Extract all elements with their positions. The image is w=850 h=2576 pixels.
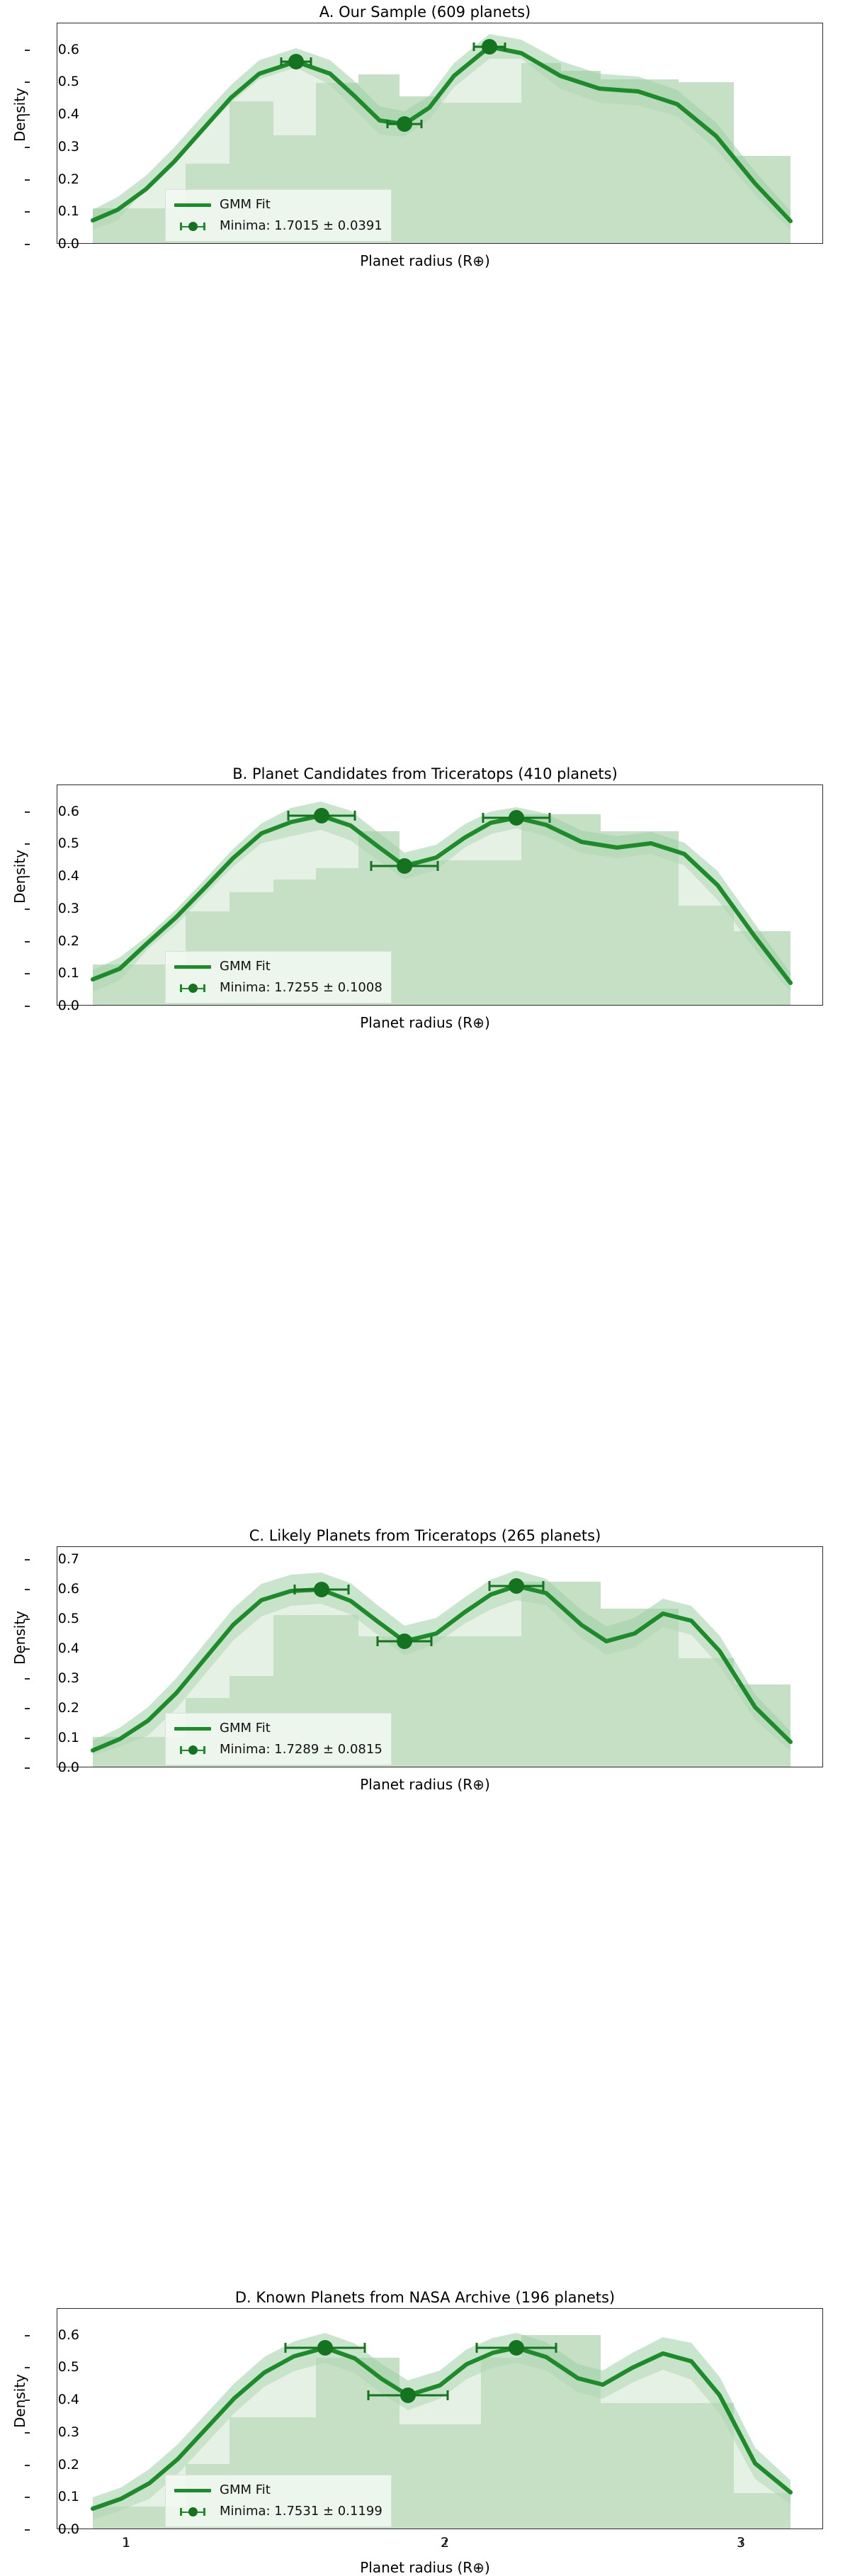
panel-a-ytick-4: 0.4: [30, 106, 79, 122]
panel-b-title: B. Planet Candidates from Triceratops (4…: [0, 765, 850, 783]
panel-d-ytick-4: 0.4: [30, 2392, 79, 2407]
panel-d-ytick-0: 0.0: [30, 2521, 79, 2537]
legend-label-gmm-fit: GMM Fit: [220, 1718, 271, 1739]
panel-d-ytick-5: 0.5: [30, 2359, 79, 2375]
panel-b-maximum-dot-left: [314, 808, 329, 823]
legend-entry-minima: Minima: 1.7289 ± 0.0815: [173, 1739, 382, 1760]
panel-d-ytick-1: 0.1: [30, 2489, 79, 2504]
legend-entry-gmm-fit: GMM Fit: [173, 194, 382, 215]
panel-d-xtick-2: 3: [720, 2535, 762, 2550]
panel-d: D. Known Planets from NASA Archive (196 …: [0, 1461, 850, 1947]
legend-label-minima: Minima: 1.7531 ± 0.1199: [220, 2501, 382, 2522]
panel-a-ytick-1: 0.1: [30, 203, 79, 219]
legend-entry-gmm-fit: GMM Fit: [173, 2480, 382, 2501]
errorbar-swatch-icon: [173, 1742, 212, 1757]
legend-label-minima: Minima: 1.7255 ± 0.1008: [220, 977, 382, 999]
panel-b-minima-dot: [397, 858, 412, 874]
panel-b-ytick-6: 0.6: [30, 804, 79, 819]
gmm-line-swatch-icon: [173, 197, 212, 213]
panel-a-ytick-6: 0.6: [30, 42, 79, 57]
panel-b-axes: GMM Fit Minima: 1.7255 ± 0.1008: [57, 784, 823, 1006]
panel-d-axes: GMM Fit Minima: 1.7531 ± 0.1199: [57, 2308, 823, 2529]
panel-d-xtick-0: 1: [105, 2535, 147, 2550]
panel-d-xtick-1: 2: [424, 2535, 466, 2550]
legend-entry-gmm-fit: GMM Fit: [173, 1718, 382, 1739]
panel-b-ytick-5: 0.5: [30, 836, 79, 851]
panel-d-legend: GMM Fit Minima: 1.7531 ± 0.1199: [165, 2475, 392, 2527]
panel-b: B. Planet Candidates from Triceratops (4…: [0, 487, 850, 974]
figure-root: A. Our Sample (609 planets) Density: [0, 0, 850, 1948]
panel-b-ytick-4: 0.4: [30, 868, 79, 884]
legend-label-gmm-fit: GMM Fit: [220, 194, 271, 215]
legend-entry-gmm-fit: GMM Fit: [173, 956, 382, 977]
panel-b-ytick-3: 0.3: [30, 901, 79, 916]
gmm-line-swatch-icon: [173, 1721, 212, 1736]
panel-a-maximum-dot-right: [482, 39, 497, 55]
panel-a-xlabel: Planet radius (R⊕): [0, 252, 850, 269]
panel-a-ytick-3: 0.3: [30, 139, 79, 154]
panel-a: A. Our Sample (609 planets) Density: [0, 0, 850, 487]
panel-c: C. Likely Planets from Triceratops (265 …: [0, 974, 850, 1461]
panel-a-legend: GMM Fit Minima: 1.7015 ± 0.0391: [165, 189, 392, 242]
panel-d-title: D. Known Planets from NASA Archive (196 …: [0, 2288, 850, 2307]
panel-a-maximum-dot-left: [288, 54, 304, 69]
legend-label-minima: Minima: 1.7015 ± 0.0391: [220, 215, 382, 237]
panel-a-ytick-5: 0.5: [30, 74, 79, 89]
panel-a-axes: GMM Fit Minima: 1.7015 ± 0.0391: [57, 23, 823, 244]
gmm-line-swatch-icon: [173, 959, 212, 974]
errorbar-swatch-icon: [173, 2504, 212, 2519]
panel-a-title: A. Our Sample (609 planets): [0, 3, 850, 21]
errorbar-swatch-icon: [173, 980, 212, 996]
panel-b-legend: GMM Fit Minima: 1.7255 ± 0.1008: [165, 951, 392, 1003]
panel-d-ytick-2: 0.2: [30, 2457, 79, 2473]
panel-a-ytick-2: 0.2: [30, 171, 79, 187]
panel-d-xlabel: Planet radius (R⊕): [0, 2559, 850, 2576]
panel-d-ytick-3: 0.3: [30, 2424, 79, 2440]
panel-d-ylabel: Density: [11, 2358, 28, 2443]
panel-d-maximum-dot-left: [317, 2340, 333, 2356]
legend-entry-minima: Minima: 1.7255 ± 0.1008: [173, 977, 382, 999]
legend-label-minima: Minima: 1.7289 ± 0.0815: [220, 1739, 382, 1760]
panel-d-ytick-6: 0.6: [30, 2327, 79, 2343]
legend-label-gmm-fit: GMM Fit: [220, 956, 271, 977]
panel-a-minima-dot: [397, 116, 412, 132]
gmm-line-swatch-icon: [173, 2482, 212, 2498]
legend-entry-minima: Minima: 1.7531 ± 0.1199: [173, 2501, 382, 2522]
panel-d-minima-dot: [400, 2387, 416, 2403]
panel-d-maximum-dot-right: [509, 2340, 524, 2356]
panel-c-legend: GMM Fit Minima: 1.7289 ± 0.0815: [165, 1713, 392, 1765]
errorbar-swatch-icon: [173, 218, 212, 234]
legend-entry-minima: Minima: 1.7015 ± 0.0391: [173, 215, 382, 237]
panel-b-ytick-2: 0.2: [30, 933, 79, 949]
legend-label-gmm-fit: GMM Fit: [220, 2480, 271, 2501]
panel-b-maximum-dot-right: [509, 810, 524, 826]
panel-a-ytick-0: 0.0: [30, 236, 79, 252]
